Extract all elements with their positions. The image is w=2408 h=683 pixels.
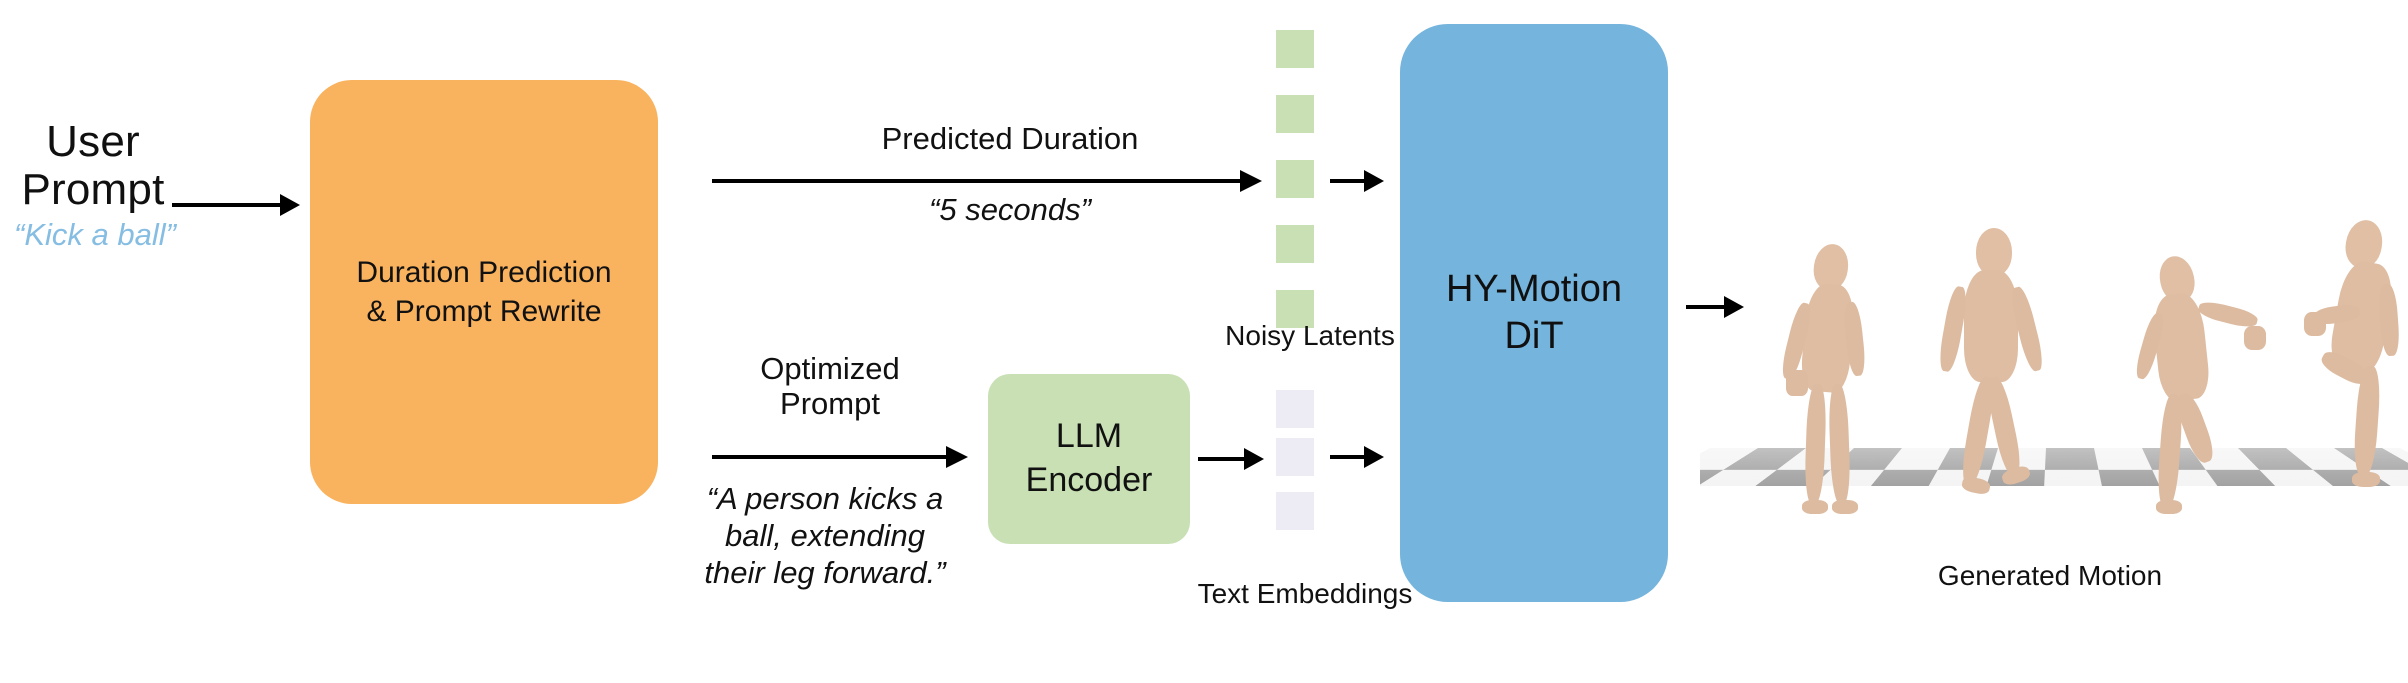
arrow-encoder-to-embeddings-line — [1198, 457, 1248, 461]
optimized-prompt-value-line3: their leg forward.” — [660, 554, 990, 591]
arrow-predicted-duration-line — [712, 179, 1244, 183]
llm-encoder-line2: Encoder — [1026, 459, 1153, 503]
noisy-latent-token — [1276, 95, 1314, 133]
noisy-latent-token — [1276, 30, 1314, 68]
arrow-predicted-duration-head — [1240, 170, 1262, 192]
generated-motion-render — [1700, 130, 2408, 550]
optimized-prompt-value: “A person kicks a ball, extending their … — [660, 480, 990, 592]
stage-llm-encoder[interactable]: LLM Encoder — [988, 374, 1190, 544]
optimized-prompt-value-line2: ball, extending — [660, 517, 990, 554]
optimized-prompt-value-line1: “A person kicks a — [660, 480, 990, 517]
user-prompt-line2: Prompt — [8, 166, 178, 214]
llm-encoder-line1: LLM — [1026, 415, 1153, 459]
stage-duration-prediction[interactable]: Duration Prediction & Prompt Rewrite — [310, 80, 658, 504]
duration-label-line1: Duration Prediction — [356, 253, 611, 292]
stage-hy-motion-dit[interactable]: HY-Motion DiT — [1400, 24, 1668, 602]
user-prompt-label: User Prompt — [8, 118, 178, 213]
motion-frame — [2120, 234, 2280, 532]
motion-frame — [1922, 220, 2062, 532]
predicted-duration-label: Predicted Duration — [760, 122, 1260, 157]
arrow-optimized-prompt-head — [946, 446, 968, 468]
text-embeddings-label: Text Embeddings — [1165, 578, 1445, 609]
dit-label-line2: DiT — [1446, 313, 1622, 361]
arrow-input-to-duration-line — [172, 203, 282, 207]
text-embedding-token — [1276, 492, 1314, 530]
generated-motion-label: Generated Motion — [1900, 560, 2200, 591]
stage-duration-prediction-label: Duration Prediction & Prompt Rewrite — [346, 253, 621, 331]
stage-llm-encoder-label: LLM Encoder — [1026, 415, 1153, 502]
noisy-latents-label: Noisy Latents — [1185, 320, 1435, 351]
optimized-prompt-line2: Prompt — [700, 387, 960, 422]
motion-frame — [2300, 216, 2408, 532]
text-embedding-token — [1276, 390, 1314, 428]
optimized-prompt-label: Optimized Prompt — [700, 352, 960, 421]
arrow-embeddings-to-dit-head — [1364, 446, 1384, 468]
stage-hy-motion-dit-label: HY-Motion DiT — [1446, 266, 1622, 361]
arrow-latents-to-dit-head — [1364, 170, 1384, 192]
arrow-input-to-duration-head — [280, 194, 300, 216]
noisy-latent-token — [1276, 225, 1314, 263]
user-prompt-example-quote: “Kick a ball” — [0, 218, 190, 252]
arrow-embeddings-to-dit-line — [1330, 455, 1368, 459]
noisy-latent-token — [1276, 160, 1314, 198]
arrow-latents-to-dit-line — [1330, 179, 1368, 183]
duration-label-line2: & Prompt Rewrite — [356, 292, 611, 331]
user-prompt-line1: User — [8, 118, 178, 166]
diagram-canvas: User Prompt “Kick a ball” Duration Predi… — [0, 0, 2408, 683]
arrow-encoder-to-embeddings-head — [1244, 448, 1264, 470]
optimized-prompt-line1: Optimized — [700, 352, 960, 387]
arrow-optimized-prompt-line — [712, 455, 950, 459]
dit-label-line1: HY-Motion — [1446, 266, 1622, 314]
motion-frame — [1766, 232, 1886, 532]
predicted-duration-value: “5 seconds” — [760, 193, 1260, 228]
text-embedding-token — [1276, 438, 1314, 476]
